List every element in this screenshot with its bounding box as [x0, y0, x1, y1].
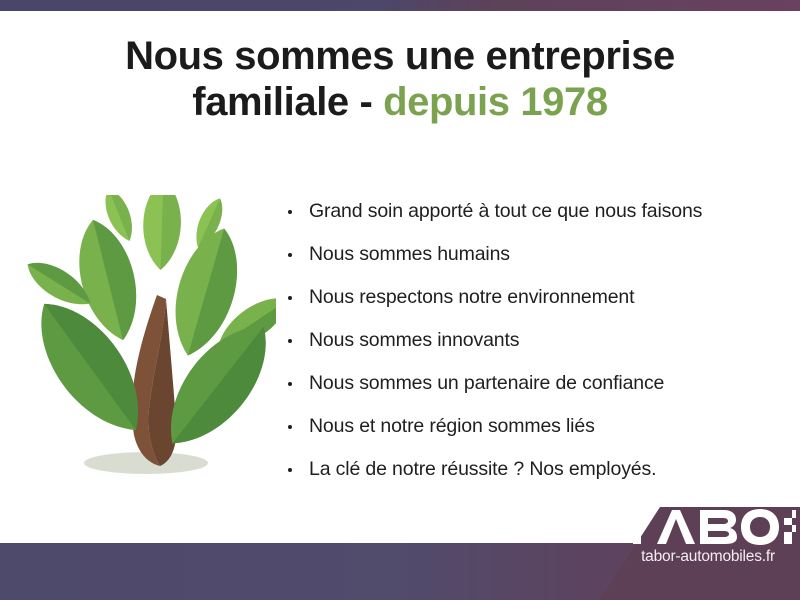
benefits-list: Grand soin apporté à tout ce que nous fa…	[285, 190, 785, 491]
tabor-wordmark-icon	[620, 508, 796, 546]
list-item: Nous sommes humains	[285, 233, 785, 276]
list-item-label: Nous sommes humains	[309, 243, 510, 266]
tree-trunk-icon	[132, 295, 177, 466]
list-item-label: Nous sommes innovants	[309, 329, 519, 352]
page-title: Nous sommes une entreprise familiale - d…	[0, 34, 800, 125]
list-item: Nous sommes innovants	[285, 319, 785, 362]
title-line-2-accent: depuis 1978	[383, 80, 608, 124]
title-line-1: Nous sommes une entreprise	[0, 34, 800, 80]
tree-illustration	[14, 195, 276, 480]
brand-logo[interactable]: tabor-automobiles.fr	[620, 508, 796, 565]
list-item: La clé de notre réussite ? Nos employés.	[285, 448, 785, 491]
brand-url[interactable]: tabor-automobiles.fr	[620, 548, 796, 565]
title-line-2: familiale - depuis 1978	[0, 80, 800, 126]
list-item: Nous et notre région sommes liés	[285, 405, 785, 448]
list-item-label: Nous respectons notre environnement	[309, 286, 634, 309]
list-item: Nous respectons notre environnement	[285, 276, 785, 319]
list-item: Grand soin apporté à tout ce que nous fa…	[285, 190, 785, 233]
list-item: Nous sommes un partenaire de confiance	[285, 362, 785, 405]
slide-canvas: Nous sommes une entreprise familiale - d…	[0, 0, 800, 600]
leaf-icon-top-center	[142, 195, 183, 271]
list-item-label: Nous sommes un partenaire de confiance	[309, 372, 664, 395]
list-item-label: Grand soin apporté à tout ce que nous fa…	[309, 200, 702, 223]
title-line-2-plain: familiale -	[192, 80, 383, 124]
list-item-label: La clé de notre réussite ? Nos employés.	[309, 458, 656, 481]
list-item-label: Nous et notre région sommes liés	[309, 415, 595, 438]
top-accent-bar	[0, 0, 800, 11]
